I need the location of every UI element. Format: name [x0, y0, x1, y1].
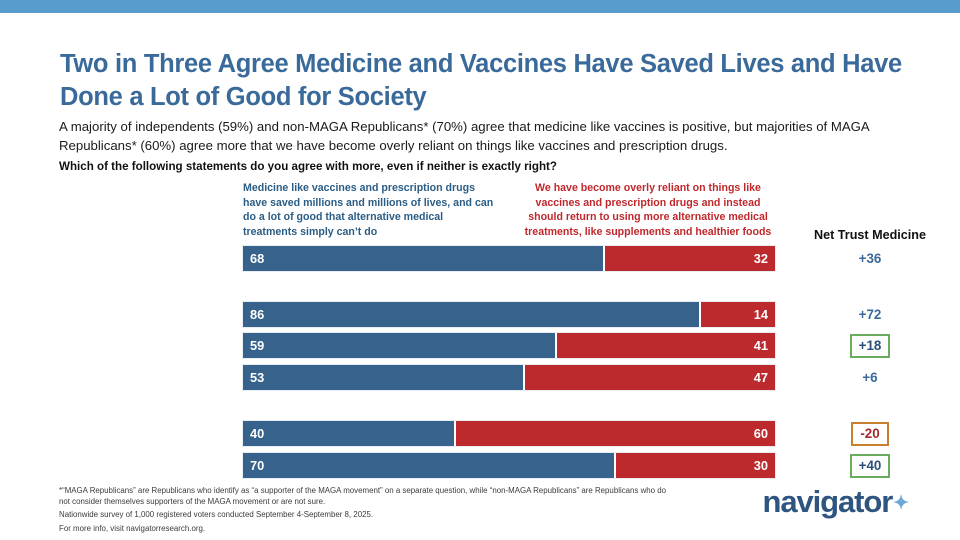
bar-segment-blue: 70 — [242, 452, 616, 479]
footnote: *“MAGA Republicans” are Republicans who … — [59, 485, 679, 534]
bar-segment-red: 14 — [701, 301, 776, 328]
bar-track: 8614 — [242, 301, 776, 328]
net-trust-value: -20 — [782, 420, 958, 447]
bar-segment-blue: 86 — [242, 301, 701, 328]
bar-segment-red: 30 — [616, 452, 776, 479]
bar-segment-blue: 53 — [242, 364, 525, 391]
net-trust-highlight-box: +18 — [850, 334, 891, 358]
bar-segment-red: 32 — [605, 245, 776, 272]
net-trust-value: +36 — [782, 245, 958, 272]
footnote-line-2: Nationwide survey of 1,000 registered vo… — [59, 510, 373, 519]
bar-track: 7030 — [242, 452, 776, 479]
footnote-line-1: *“MAGA Republicans” are Republicans who … — [59, 486, 666, 506]
bar-segment-blue: 40 — [242, 420, 456, 447]
net-trust-highlight-box: -20 — [851, 422, 888, 446]
bar-track: 5347 — [242, 364, 776, 391]
net-trust-value: +40 — [782, 452, 958, 479]
bar-segment-blue: 68 — [242, 245, 605, 272]
bar-segment-red: 47 — [525, 364, 776, 391]
star-icon: ✦ — [893, 493, 908, 514]
bar-track: 6832 — [242, 245, 776, 272]
footnote-spacer-2 — [59, 521, 679, 523]
net-trust-value: +18 — [782, 332, 958, 359]
net-trust-highlight-box: +40 — [850, 454, 891, 478]
stacked-bar-chart: Overall6832+36Democrats8614+72Independen… — [0, 0, 960, 540]
bar-track: 5941 — [242, 332, 776, 359]
bar-segment-red: 60 — [456, 420, 776, 447]
bar-track: 4060 — [242, 420, 776, 447]
navigator-logo: navigator✦ — [763, 486, 908, 517]
bar-segment-blue: 59 — [242, 332, 557, 359]
net-trust-value: +72 — [782, 301, 958, 328]
footnote-line-3: For more info, visit navigatorresearch.o… — [59, 524, 205, 533]
slide-root: Two in Three Agree Medicine and Vaccines… — [0, 0, 960, 540]
logo-wordmark: navigator — [763, 484, 893, 519]
bar-segment-red: 41 — [557, 332, 776, 359]
net-trust-value: +6 — [782, 364, 958, 391]
